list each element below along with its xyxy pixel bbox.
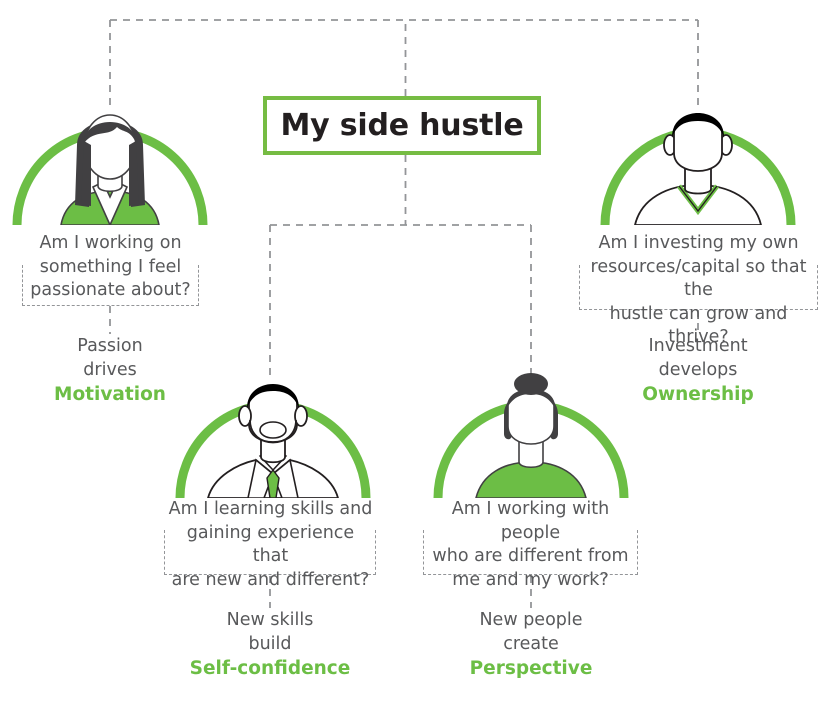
outcome-new-skills: New skills build Self-confidence (170, 609, 370, 681)
outcome-new-people: New people create Perspective (431, 609, 631, 681)
question-line: are new and different? (168, 569, 373, 593)
question-text-passion: Am I working on something I feel passion… (6, 230, 215, 309)
man-short-hair-avatar-icon (593, 85, 803, 225)
outcome-line: Passion (10, 335, 210, 359)
question-text-new-skills: Am I learning skills and gaining experie… (158, 496, 383, 598)
outcome-keyword: Self-confidence (170, 656, 370, 681)
question-line: something I feel (16, 256, 205, 280)
question-line: passionate about? (16, 279, 205, 303)
outcome-line: create (431, 633, 631, 657)
outcome-line: New skills (170, 609, 370, 633)
woman-bun-avatar-icon (426, 358, 636, 498)
question-line: Am I working on (16, 232, 205, 256)
diagram-canvas: My side hustle Am I working on something… (0, 0, 832, 701)
woman-long-hair-avatar-icon (5, 85, 215, 225)
page-title: My side hustle (280, 108, 523, 143)
outcome-line: build (170, 633, 370, 657)
question-text-new-people: Am I working with people who are differe… (416, 496, 645, 598)
question-line: gaining experience that (168, 522, 373, 569)
question-line: Am I investing my own (577, 232, 820, 256)
question-line: who are different from (426, 545, 635, 569)
bearded-man-suit-avatar-icon (168, 358, 378, 498)
question-line: Am I learning skills and (168, 498, 373, 522)
outcome-keyword: Perspective (431, 656, 631, 681)
outcome-line: New people (431, 609, 631, 633)
outcome-line: Investment (598, 335, 798, 359)
center-title-box: My side hustle (263, 96, 541, 155)
question-line: Am I working with people (426, 498, 635, 545)
question-line: resources/capital so that the (577, 256, 820, 303)
question-line: me and my work? (426, 569, 635, 593)
